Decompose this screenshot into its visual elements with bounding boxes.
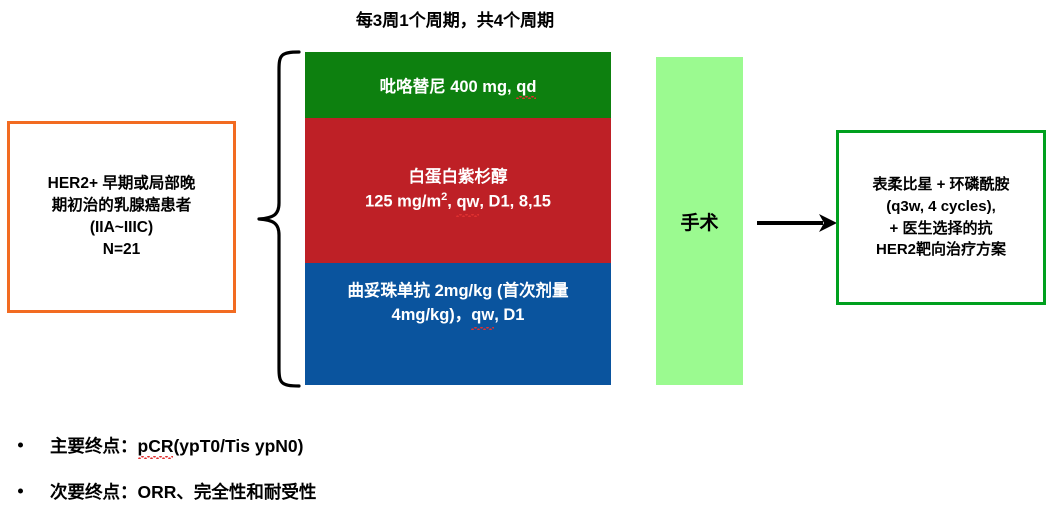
population-line-2: 期初治的乳腺癌患者	[48, 195, 196, 217]
left-curly-brace-icon	[255, 48, 301, 390]
paclitaxel-dose-mid: ,	[447, 193, 456, 211]
paclitaxel-schedule: qw	[456, 191, 479, 215]
paclitaxel-dose-prefix: 125 mg/m	[365, 193, 441, 211]
population-box: HER2+ 早期或局部晚 期初治的乳腺癌患者 (IIA~IIIC) N=21	[7, 121, 236, 313]
treatment-band-trastuzumab: 曲妥珠单抗 2mg/kg (首次剂量 4mg/kg)，qw, D1	[305, 263, 611, 385]
treatment-stack: 吡咯替尼 400 mg, qd 白蛋白紫杉醇 125 mg/m2, qw, D1…	[305, 52, 611, 385]
primary-endpoint-label: 主要终点：	[50, 436, 138, 456]
paclitaxel-drug: 白蛋白紫杉醇	[365, 166, 551, 190]
adjuvant-line-2: (q3w, 4 cycles),	[872, 196, 1009, 218]
right-arrow-icon	[755, 208, 839, 238]
pyrotinib-schedule: qd	[516, 78, 536, 97]
primary-endpoint-value-suffix: (ypT0/Tis ypN0)	[173, 436, 303, 456]
pyrotinib-drug: 吡咯替尼	[380, 78, 446, 96]
paclitaxel-dose-line: 125 mg/m2, qw, D1, 8,15	[365, 190, 551, 214]
primary-endpoint-text: 主要终点：pCR(ypT0/Tis ypN0)	[50, 433, 303, 458]
bullet-icon	[18, 489, 23, 494]
adjuvant-therapy-box: 表柔比星 + 环磷酰胺 (q3w, 4 cycles), + 医生选择的抗 HE…	[836, 130, 1046, 305]
secondary-endpoint-value-prefix: ORR、完全性和耐受性	[138, 482, 317, 502]
treatment-band-pyrotinib: 吡咯替尼 400 mg, qd	[305, 52, 611, 118]
paclitaxel-dose-suffix: , D1, 8,15	[479, 193, 551, 211]
list-item: 主要终点：pCR(ypT0/Tis ypN0)	[14, 422, 634, 468]
primary-endpoint-value-prefix: pCR	[138, 436, 174, 457]
trastuzumab-line-2: 4mg/kg)，qw, D1	[348, 304, 569, 328]
population-line-1: HER2+ 早期或局部晚	[48, 173, 196, 195]
population-line-3: (IIA~IIIC)	[48, 217, 196, 239]
trastuzumab-line2-prefix: 4mg/kg)，	[392, 306, 472, 324]
pyrotinib-text: 吡咯替尼 400 mg, qd	[370, 73, 547, 97]
population-text: HER2+ 早期或局部晚 期初治的乳腺癌患者 (IIA~IIIC) N=21	[40, 173, 204, 261]
adjuvant-line-1: 表柔比星 + 环磷酰胺	[872, 174, 1009, 196]
adjuvant-line-3: + 医生选择的抗	[872, 218, 1009, 240]
endpoints-list: 主要终点：pCR(ypT0/Tis ypN0) 次要终点：ORR、完全性和耐受性	[14, 422, 634, 506]
paclitaxel-text: 白蛋白紫杉醇 125 mg/m2, qw, D1, 8,15	[355, 166, 561, 214]
trastuzumab-line-1: 曲妥珠单抗 2mg/kg (首次剂量	[348, 280, 569, 304]
bullet-icon	[18, 443, 23, 448]
treatment-band-paclitaxel: 白蛋白紫杉醇 125 mg/m2, qw, D1, 8,15	[305, 118, 611, 263]
cycle-title: 每3周1个周期，共4个周期	[280, 6, 630, 31]
trastuzumab-text: 曲妥珠单抗 2mg/kg (首次剂量 4mg/kg)，qw, D1	[338, 280, 579, 328]
surgery-column: 手术	[656, 57, 743, 385]
trastuzumab-line2-suffix: , D1	[494, 306, 524, 324]
trastuzumab-schedule: qw	[471, 304, 494, 328]
adjuvant-line-4: HER2靶向治疗方案	[872, 239, 1009, 261]
secondary-endpoint-text: 次要终点：ORR、完全性和耐受性	[50, 479, 316, 504]
trial-design-diagram: 每3周1个周期，共4个周期 HER2+ 早期或局部晚 期初治的乳腺癌患者 (II…	[0, 0, 1053, 506]
secondary-endpoint-label: 次要终点：	[50, 482, 138, 502]
pyrotinib-dose: 400 mg,	[450, 78, 516, 96]
list-item: 次要终点：ORR、完全性和耐受性	[14, 468, 634, 506]
surgery-label: 手术	[680, 208, 718, 235]
adjuvant-text: 表柔比星 + 环磷酰胺 (q3w, 4 cycles), + 医生选择的抗 HE…	[866, 174, 1015, 261]
population-line-4: N=21	[48, 239, 196, 261]
